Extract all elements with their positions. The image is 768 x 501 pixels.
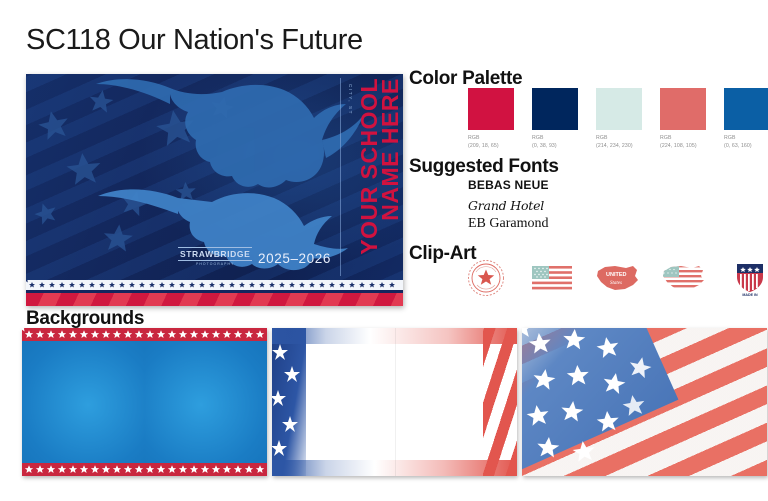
clipart-item[interactable] (463, 258, 509, 298)
logo-wordmark: STRAWBRIDGE (178, 247, 252, 261)
clipart-item[interactable] (529, 258, 575, 298)
color-palette-heading: Color Palette (409, 68, 522, 90)
background-thumbnail-grunge-flag[interactable] (522, 328, 767, 476)
swatch-label-5: RGB (0, 63, 160) (724, 135, 768, 151)
flag-border-right (483, 328, 517, 476)
grunge-stars (522, 328, 767, 476)
font-sample-bebas-neue: BEBAS NEUE (468, 178, 549, 192)
cover-year: 2025–2026 (258, 251, 331, 266)
swatch-item[interactable]: RGB (209, 18, 65) (468, 88, 514, 151)
swatch-label-3: RGB (214, 234, 230) (596, 135, 642, 151)
star-band-top (22, 328, 267, 341)
background-thumbnail-flag-border[interactable] (272, 328, 517, 476)
backgrounds-list (22, 328, 767, 476)
page-fold-line (395, 328, 396, 476)
backgrounds-heading: Backgrounds (26, 308, 144, 330)
svg-text:UNITED: UNITED (606, 272, 627, 278)
usa-map-text-icon[interactable]: UNITED States (595, 263, 641, 293)
swatch-item[interactable]: RGB (0, 63, 160) (724, 88, 768, 151)
cover-divider-line (340, 78, 341, 276)
page-title: SC118 Our Nation's Future (26, 24, 363, 57)
swatch-item[interactable]: RGB (0, 38, 93) (532, 88, 578, 151)
cover-school-name: YOUR SCHOOL NAME HERE (359, 78, 401, 255)
american-flag-icon[interactable] (531, 264, 573, 292)
swatch-color-4[interactable] (660, 88, 706, 130)
made-in-usa-shield-icon[interactable]: MADE IN (730, 258, 768, 298)
clipart-item[interactable]: UNITED States (595, 258, 641, 298)
swatch-color-5[interactable] (724, 88, 768, 130)
clipart-item[interactable]: MADE IN (727, 258, 768, 298)
usa-map-flag-icon[interactable] (661, 263, 707, 293)
star-band-bottom (22, 463, 267, 476)
clipart-list: UNITED States (463, 258, 768, 298)
svg-text:States: States (610, 281, 622, 286)
font-sample-eb-garamond: EB Garamond (468, 216, 549, 232)
strawbridge-logo: STRAWBRIDGE PHOTOGRAPHY (178, 247, 252, 266)
cover-artwork: CITY, ST YOUR SCHOOL NAME HERE STRAWBRID… (26, 74, 403, 280)
font-sample-grand-hotel: Grand Hotel (468, 198, 549, 213)
swatch-color-1[interactable] (468, 88, 514, 130)
cover-city-state: CITY, ST (348, 84, 353, 115)
swatch-item[interactable]: RGB (224, 108, 105) (660, 88, 706, 151)
swatch-color-2[interactable] (532, 88, 578, 130)
suggested-fonts-heading: Suggested Fonts (409, 156, 559, 178)
logo-tagline: PHOTOGRAPHY (178, 262, 252, 266)
flag-border-left (272, 328, 306, 476)
swatch-label-1: RGB (209, 18, 65) (468, 135, 514, 151)
color-palette-swatches: RGB (209, 18, 65) RGB (0, 38, 93) RGB (2… (468, 88, 768, 151)
clipart-item[interactable] (661, 258, 707, 298)
yearbook-cover-preview[interactable]: CITY, ST YOUR SCHOOL NAME HERE STRAWBRID… (26, 74, 403, 306)
cover-red-stripes (26, 293, 403, 306)
cover-bottom-band (26, 280, 403, 306)
svg-text:MADE IN: MADE IN (742, 293, 758, 297)
swatch-label-2: RGB (0, 38, 93) (532, 135, 578, 151)
swatch-label-4: RGB (224, 108, 105) (660, 135, 706, 151)
proud-american-stamp-icon[interactable] (466, 258, 506, 298)
suggested-fonts-list: BEBAS NEUE Grand Hotel EB Garamond (468, 178, 549, 232)
swatch-color-3[interactable] (596, 88, 642, 130)
background-thumbnail-blue-stars[interactable] (22, 328, 267, 476)
cover-star-strip (26, 280, 403, 290)
swatch-item[interactable]: RGB (214, 234, 230) (596, 88, 642, 151)
